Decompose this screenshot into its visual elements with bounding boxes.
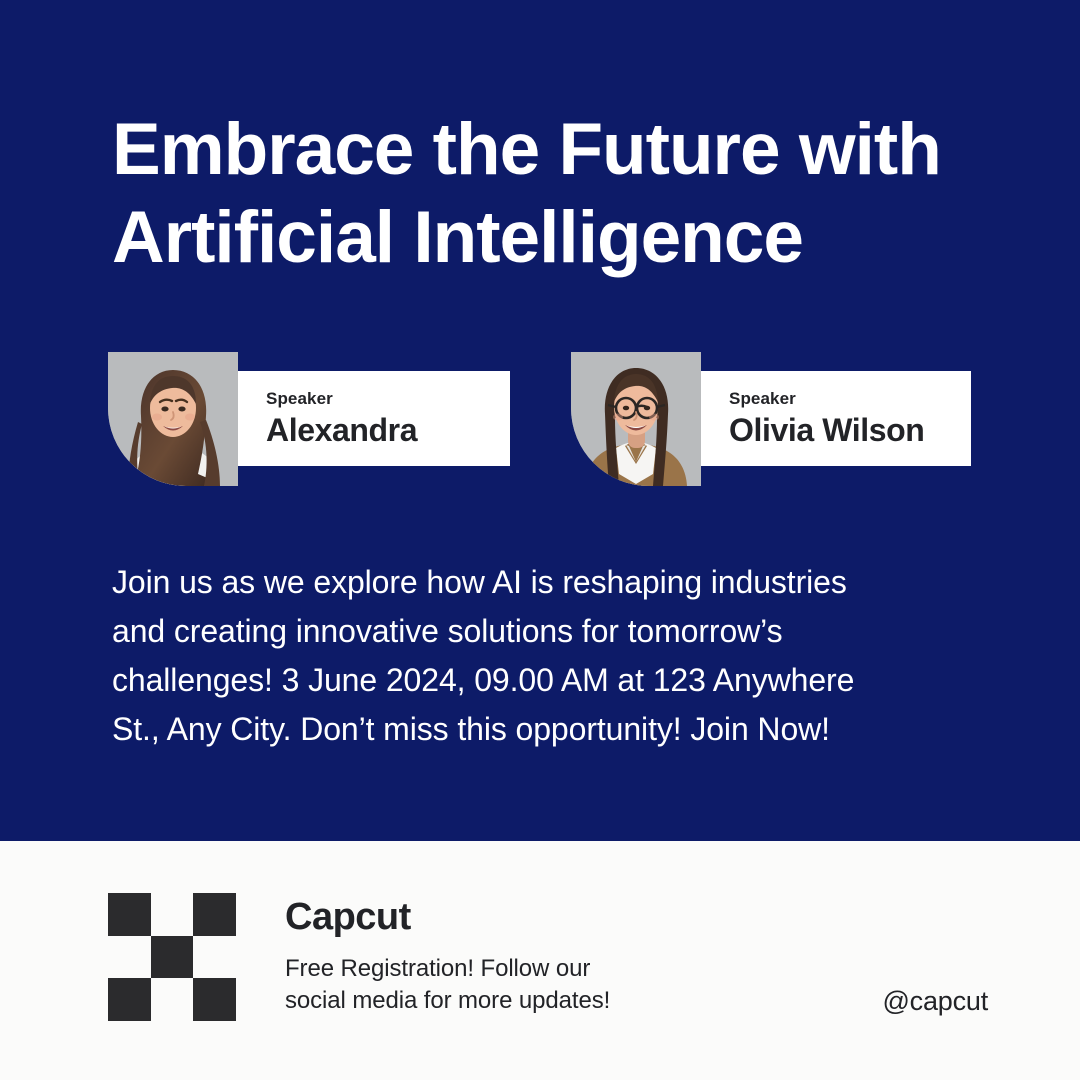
speaker-photo xyxy=(571,352,701,486)
logo-cell xyxy=(151,936,194,979)
hero-panel: Embrace the Future with Artificial Intel… xyxy=(0,0,1080,841)
speaker-photo xyxy=(108,352,238,486)
speaker-card: Speaker Olivia Wilson xyxy=(571,352,971,486)
description-line-1: Join us as we explore how AI is reshapin… xyxy=(112,558,992,607)
speaker-list: Speaker Alexandra xyxy=(0,352,1080,486)
speaker-nameplate: Speaker Olivia Wilson xyxy=(701,371,971,466)
logo-cell xyxy=(193,978,236,1021)
logo-cell xyxy=(193,893,236,936)
title-line-1: Embrace the Future with xyxy=(112,106,1012,194)
speaker-name: Alexandra xyxy=(266,411,510,449)
logo-cell xyxy=(151,978,194,1021)
event-poster: Embrace the Future with Artificial Intel… xyxy=(0,0,1080,1080)
tagline-line-2: social media for more updates! xyxy=(285,985,765,1017)
speaker-role-label: Speaker xyxy=(729,388,971,410)
speaker-card: Speaker Alexandra xyxy=(108,352,510,486)
speaker-nameplate: Speaker Alexandra xyxy=(238,371,510,466)
logo-cell xyxy=(108,893,151,936)
social-handle[interactable]: @capcut xyxy=(882,986,988,1017)
brand-block: Capcut Free Registration! Follow our soc… xyxy=(285,893,765,1017)
page-title: Embrace the Future with Artificial Intel… xyxy=(112,106,1012,282)
brand-tagline: Free Registration! Follow our social med… xyxy=(285,953,765,1017)
tagline-line-1: Free Registration! Follow our xyxy=(285,953,765,985)
brand-name: Capcut xyxy=(285,893,765,941)
title-line-2: Artificial Intelligence xyxy=(112,194,1012,282)
logo-cell xyxy=(193,936,236,979)
description-line-2: and creating innovative solutions for to… xyxy=(112,607,992,656)
logo-cell xyxy=(108,936,151,979)
logo-cell xyxy=(151,893,194,936)
logo-cell xyxy=(108,978,151,1021)
description-line-3: challenges! 3 June 2024, 09.00 AM at 123… xyxy=(112,656,992,705)
checkerboard-x-logo-icon xyxy=(108,893,236,1021)
speaker-name: Olivia Wilson xyxy=(729,411,971,449)
description-line-4: St., Any City. Don’t miss this opportuni… xyxy=(112,705,992,754)
event-description: Join us as we explore how AI is reshapin… xyxy=(112,558,992,754)
speaker-role-label: Speaker xyxy=(266,388,510,410)
